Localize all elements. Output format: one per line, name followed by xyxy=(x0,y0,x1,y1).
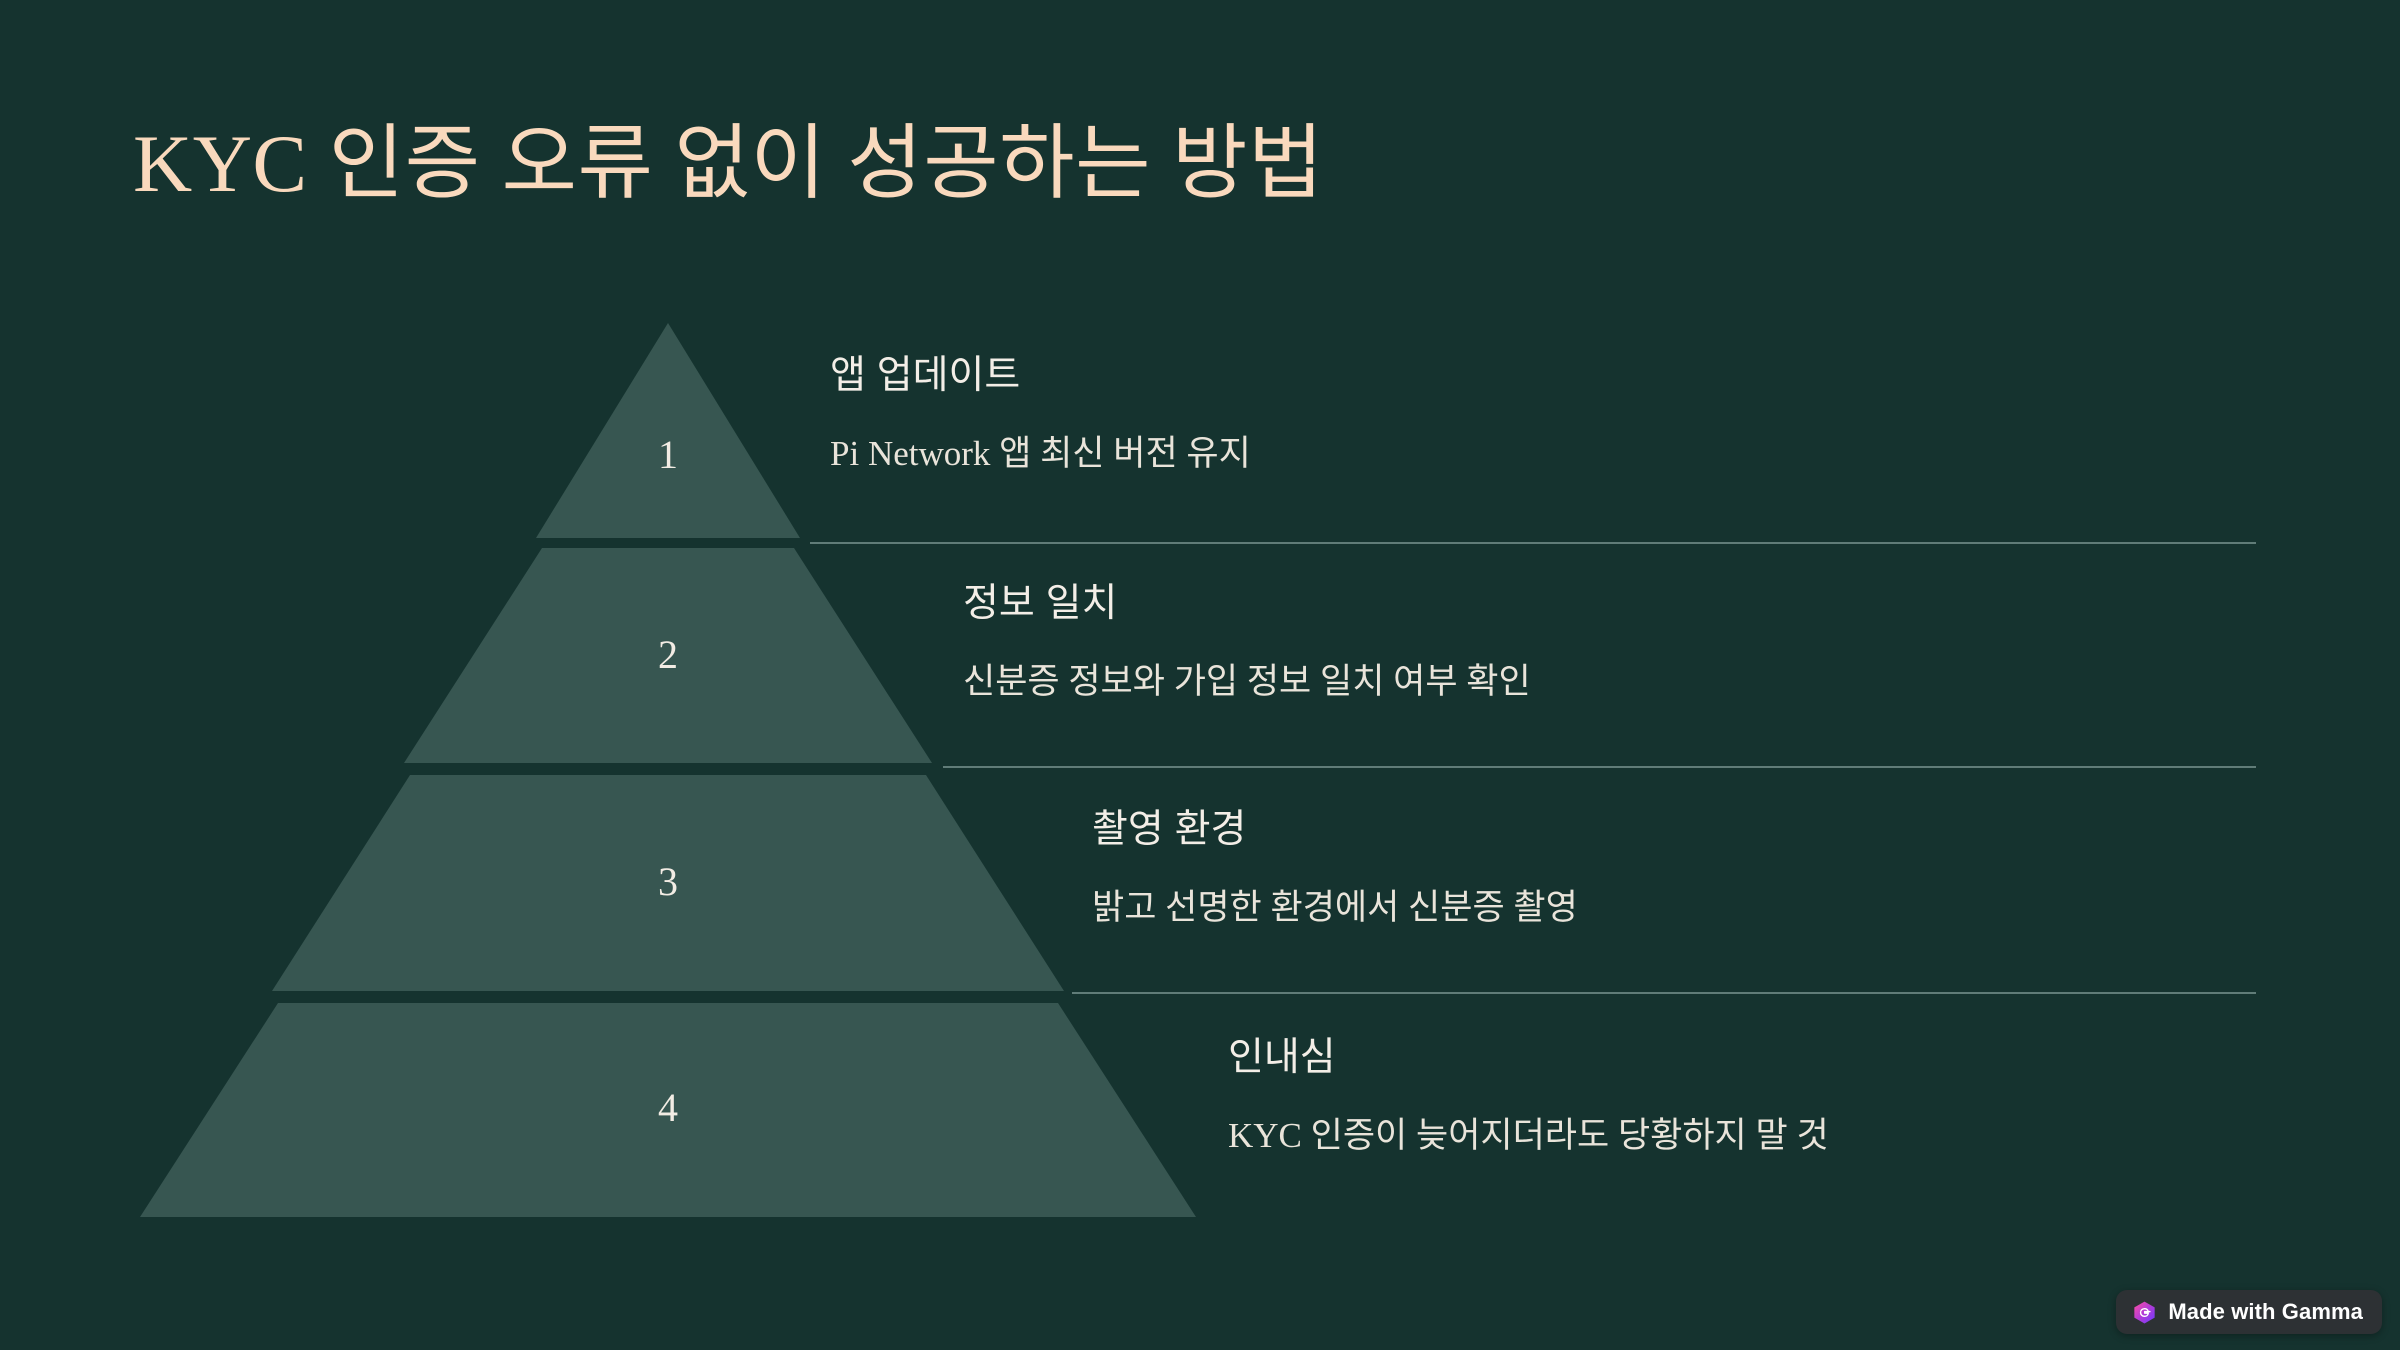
pyramid-row-4-heading: 인내심 xyxy=(1228,1034,1829,1083)
pyramid-row-2: 정보 일치 신분증 정보와 가입 정보 일치 여부 확인 xyxy=(963,580,1531,704)
pyramid-row-3: 촬영 환경 밝고 선명한 환경에서 신분증 촬영 xyxy=(1092,806,1578,930)
pyramid-row-3-heading: 촬영 환경 xyxy=(1092,806,1578,855)
pyramid-tier-1-shape xyxy=(536,323,800,538)
pyramid-tier-1-number: 1 xyxy=(658,435,678,475)
pyramid-row-1: 앱 업데이트 Pi Network 앱 최신 버전 유지 xyxy=(830,352,1251,476)
pyramid-row-3-description: 밝고 선명한 환경에서 신분증 촬영 xyxy=(1092,885,1578,931)
page-title: KYC 인증 오류 없이 성공하는 방법 xyxy=(133,118,2033,210)
pyramid-row-4-description: KYC 인증이 늦어지더라도 당황하지 말 것 xyxy=(1228,1113,1829,1159)
pyramid-row-1-divider xyxy=(810,542,2256,544)
pyramid-tier-3-number: 3 xyxy=(658,862,678,902)
pyramid-row-2-heading: 정보 일치 xyxy=(963,580,1531,629)
pyramid-tier-2-number: 2 xyxy=(658,635,678,675)
pyramid-row-2-description: 신분증 정보와 가입 정보 일치 여부 확인 xyxy=(963,659,1531,705)
pyramid-row-3-divider xyxy=(1072,992,2256,994)
pyramid-row-1-heading: 앱 업데이트 xyxy=(830,352,1251,401)
pyramid-tier-4-number: 4 xyxy=(658,1088,678,1128)
pyramid-row-2-divider xyxy=(943,766,2256,768)
slide-canvas: KYC 인증 오류 없이 성공하는 방법 1 2 3 4 앱 업데이트 Pi N… xyxy=(0,0,2400,1350)
made-with-gamma-badge[interactable]: Made with Gamma xyxy=(2116,1290,2382,1334)
pyramid-row-4: 인내심 KYC 인증이 늦어지더라도 당황하지 말 것 xyxy=(1228,1034,1829,1158)
made-with-gamma-label: Made with Gamma xyxy=(2168,1299,2363,1325)
gamma-logo-icon xyxy=(2132,1300,2157,1325)
pyramid-row-1-description: Pi Network 앱 최신 버전 유지 xyxy=(830,431,1251,477)
